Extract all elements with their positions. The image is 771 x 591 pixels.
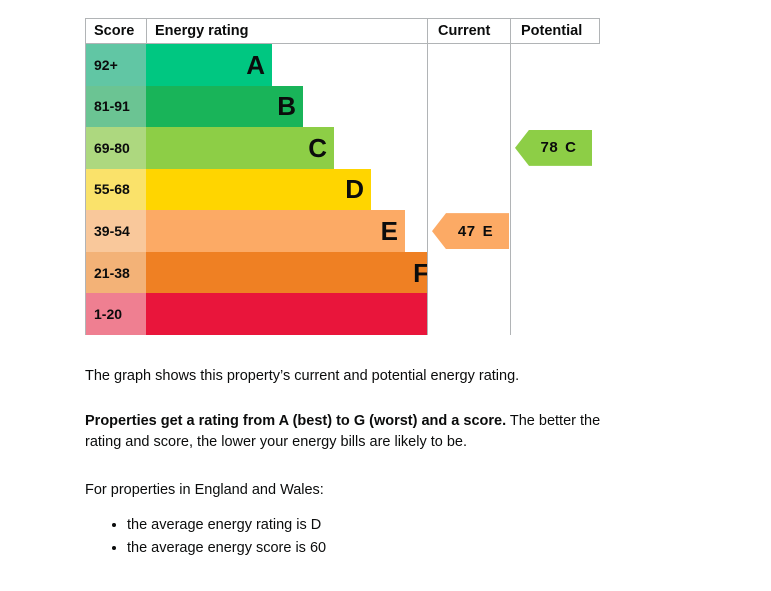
table-header-row: Score Energy rating Current Potential (86, 19, 599, 44)
band-bar: B (146, 86, 303, 128)
band-score-range: 1-20 (86, 293, 146, 335)
potential-column: 78 C (510, 44, 600, 335)
energy-band-row: 81-91B (86, 86, 427, 128)
band-score-range: 81-91 (86, 86, 146, 128)
energy-band-row: 69-80C (86, 127, 427, 169)
potential-rating-arrow: 78 C (515, 130, 592, 166)
band-score-range: 39-54 (86, 210, 146, 252)
band-score-range: 21-38 (86, 252, 146, 294)
band-bar: D (146, 169, 371, 211)
band-letter: A (246, 52, 265, 78)
energy-band-list: 92+A81-91B69-80C55-68D39-54E21-38F1-20G (86, 44, 427, 335)
average-stat-item: the average energy score is 60 (127, 537, 326, 560)
band-bar: A (146, 44, 272, 86)
header-current: Current (427, 19, 510, 44)
rating-explanation-bold: Properties get a rating from A (best) to… (85, 413, 506, 429)
band-score-range: 69-80 (86, 127, 146, 169)
header-energy-rating: Energy rating (146, 19, 427, 44)
average-stats-list: the average energy rating is Dthe averag… (103, 514, 326, 560)
current-band-letter: E (483, 223, 494, 240)
band-letter: D (345, 176, 364, 202)
epc-rating-chart: Score Energy rating Current Potential 92… (85, 18, 600, 335)
band-bar: E (146, 210, 405, 252)
band-letter: E (381, 218, 398, 244)
current-column: 47 E (427, 44, 510, 335)
energy-band-row: 21-38F (86, 252, 427, 294)
graph-description: The graph shows this property’s current … (85, 366, 685, 387)
region-intro: For properties in England and Wales: (85, 480, 685, 501)
rating-explanation: Properties get a rating from A (best) to… (85, 411, 601, 453)
band-bar: G (146, 293, 466, 335)
energy-band-row: 55-68D (86, 169, 427, 211)
average-stat-item: the average energy rating is D (127, 514, 326, 537)
current-score-value: 47 (458, 223, 476, 240)
band-bar: F (146, 252, 436, 294)
energy-band-row: 92+A (86, 44, 427, 86)
energy-band-row: 1-20G (86, 293, 427, 335)
header-score: Score (86, 19, 146, 44)
energy-band-row: 39-54E (86, 210, 427, 252)
potential-score-value: 78 (540, 139, 558, 156)
header-potential: Potential (510, 19, 600, 44)
band-score-range: 92+ (86, 44, 146, 86)
band-score-range: 55-68 (86, 169, 146, 211)
band-letter: B (277, 93, 296, 119)
band-bar: C (146, 127, 334, 169)
potential-band-letter: C (565, 139, 576, 156)
band-letter: C (308, 135, 327, 161)
current-rating-arrow: 47 E (432, 213, 509, 249)
